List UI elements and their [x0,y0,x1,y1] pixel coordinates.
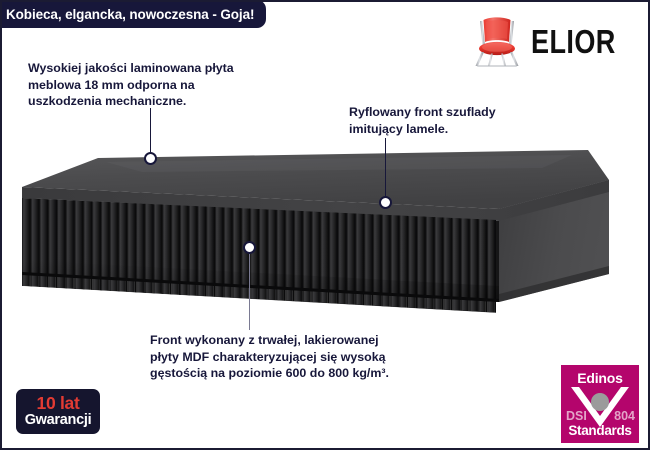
product-infographic: (function(){ var g=document.getElementBy… [0,0,650,450]
warranty-years: 10 lat [37,395,80,413]
annotation-marker-fluted-front [379,196,392,209]
leader-line-fluted-front [385,138,386,202]
certification-name: Edinos [561,370,639,386]
certification-standards-label: Standards [561,423,639,438]
annotation-text: Front wykonany z trwałej, lakierowanej p… [150,332,490,382]
annotation-text: Wysokiej jakości laminowana płyta meblow… [28,60,313,110]
leader-line-mdf [249,252,250,330]
annotation-fluted-front: Ryflowany front szuflady imitujący lamel… [349,104,589,137]
certification-code-right: 804 [614,409,635,423]
red-chair-icon [469,13,525,69]
title-banner: Kobieca, elgancka, nowoczesna - Goja! [0,0,266,28]
annotation-text: Ryflowany front szuflady imitujący lamel… [349,104,589,137]
warranty-label: Gwarancji [25,413,92,428]
certification-badge-edinos: Edinos DSI 804 Standards [561,365,639,443]
annotation-marker-laminate [144,152,157,165]
annotation-mdf-density: Front wykonany z trwałej, lakierowanej p… [150,332,490,382]
annotation-laminate-board: Wysokiej jakości laminowana płyta meblow… [28,60,313,110]
warranty-badge: 10 lat Gwarancji [16,389,100,434]
brand-logo: ELIOR [486,12,634,70]
brand-name: ELIOR [531,25,616,58]
annotation-marker-mdf [243,241,256,254]
certification-code-left: DSI [566,409,587,423]
leader-line-laminate [150,108,151,158]
page-title: Kobieca, elgancka, nowoczesna - Goja! [6,7,254,22]
